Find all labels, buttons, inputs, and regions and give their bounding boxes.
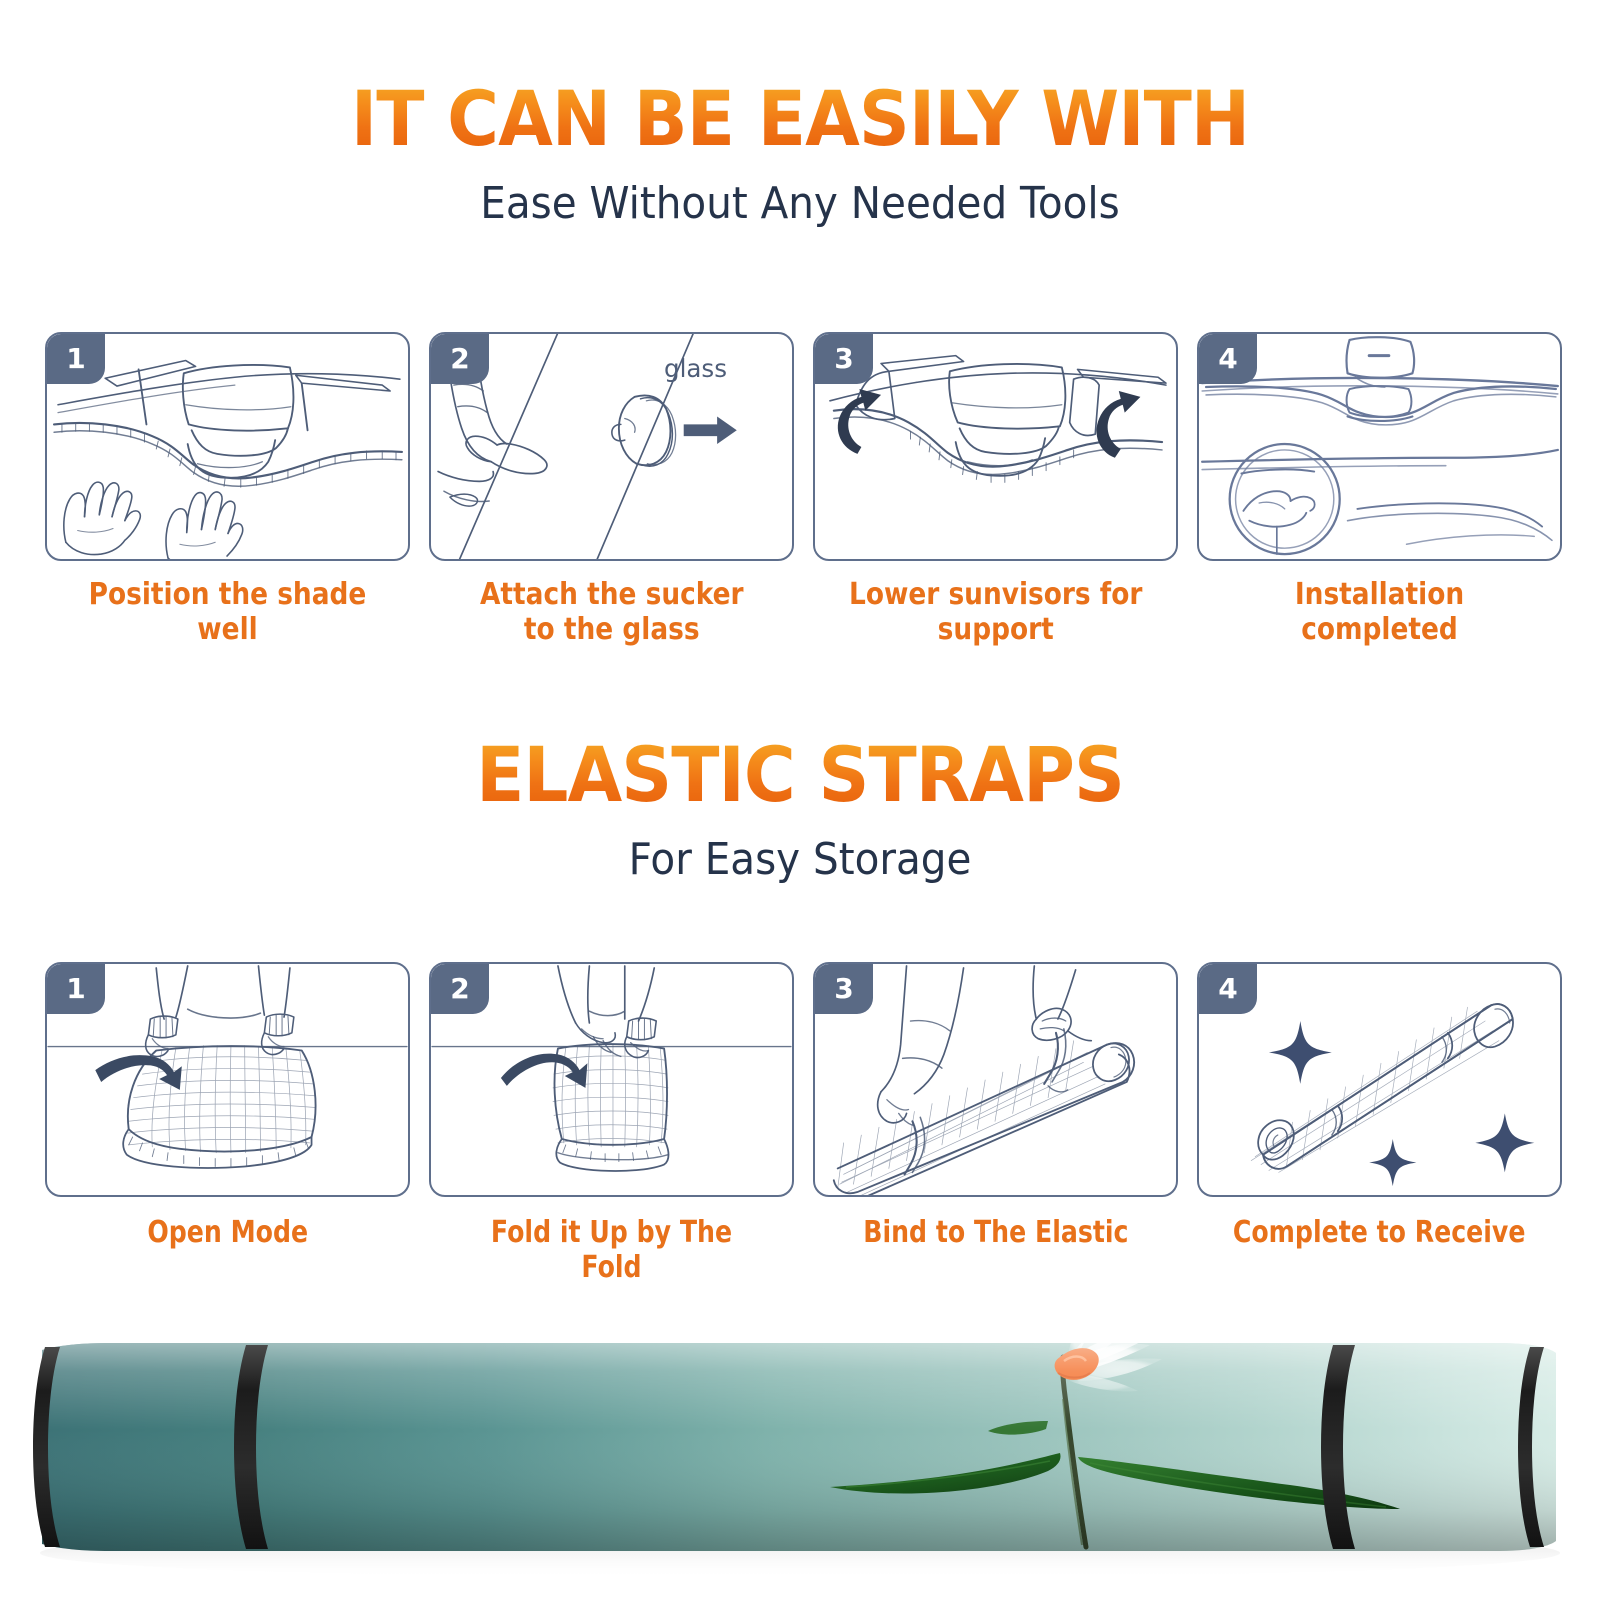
- step-card-install-4[interactable]: 4: [1197, 332, 1562, 648]
- step-number-badge: 3: [815, 334, 873, 384]
- step-illustration-card: 4: [1197, 332, 1562, 561]
- step-card-storage-2[interactable]: 2: [429, 962, 794, 1286]
- step-card-install-1[interactable]: 1: [45, 332, 410, 648]
- glass-label: glass: [664, 354, 727, 383]
- step-illustration-card: 2: [429, 962, 794, 1197]
- step-caption: Position the shade well: [67, 577, 388, 648]
- step-number-badge: 2: [431, 334, 489, 384]
- step-illustration-card: 3: [813, 962, 1178, 1197]
- step-card-install-3[interactable]: 3: [813, 332, 1178, 648]
- step-illustration-card: 4: [1197, 962, 1562, 1197]
- step-card-storage-3[interactable]: 3: [813, 962, 1178, 1286]
- step-card-storage-4[interactable]: 4: [1197, 962, 1562, 1286]
- page-title-storage: ELASTIC STRAPS: [56, 738, 1544, 812]
- step-illustration-card: 1: [45, 332, 410, 561]
- step-number-badge: 4: [1199, 964, 1257, 1014]
- sparkle-icon: [1269, 1021, 1534, 1186]
- step-illustration-card: 3: [813, 332, 1178, 561]
- step-caption: Fold it Up by The Fold: [458, 1215, 765, 1286]
- step-card-install-2[interactable]: 2: [429, 332, 794, 648]
- page-subtitle-install: Ease Without Any Needed Tools: [64, 178, 1536, 229]
- step-caption: Open Mode: [147, 1215, 308, 1250]
- step-caption: Attach the sucker to the glass: [480, 577, 744, 648]
- step-illustration-card: 1: [45, 962, 410, 1197]
- step-illustration-card: 2: [429, 332, 794, 561]
- step-card-storage-1[interactable]: 1: [45, 962, 410, 1286]
- step-number-badge: 2: [431, 964, 489, 1014]
- installation-steps-row: 1: [45, 332, 1568, 648]
- step-number-badge: 4: [1199, 334, 1257, 384]
- product-photo-rolled-shade: [0, 1295, 1600, 1600]
- step-caption: Lower sunvisors for support: [849, 577, 1142, 648]
- step-number-badge: 3: [815, 964, 873, 1014]
- page-subtitle-storage: For Easy Storage: [64, 834, 1536, 885]
- storage-section-header: ELASTIC STRAPS For Easy Storage: [0, 738, 1600, 885]
- step-caption: Complete to Receive: [1233, 1215, 1526, 1250]
- step-caption: Bind to The Elastic: [863, 1215, 1128, 1250]
- page-title-install: IT CAN BE EASILY WITH: [56, 82, 1544, 156]
- step-caption: Installation completed: [1219, 577, 1540, 648]
- install-section-header: IT CAN BE EASILY WITH Ease Without Any N…: [0, 82, 1600, 229]
- step-number-badge: 1: [47, 334, 105, 384]
- storage-steps-row: 1: [45, 962, 1568, 1286]
- step-number-badge: 1: [47, 964, 105, 1014]
